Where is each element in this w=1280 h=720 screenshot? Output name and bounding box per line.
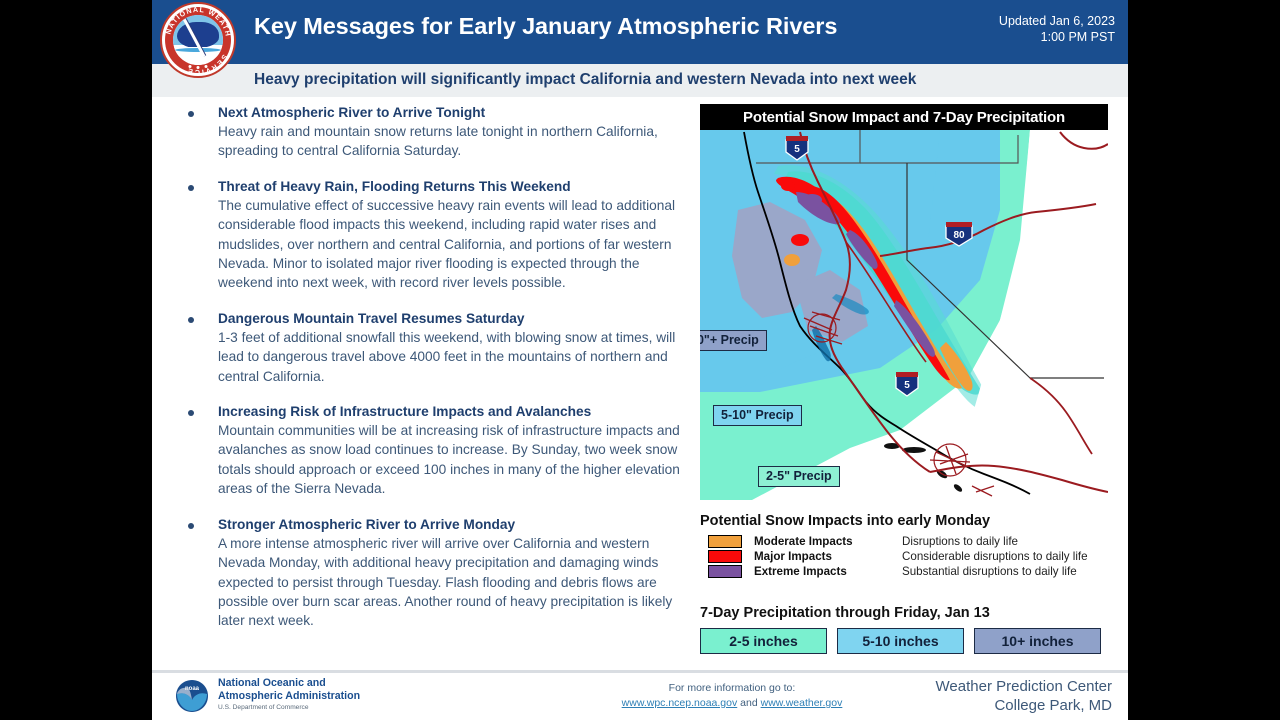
bullet-dot-icon <box>188 111 194 117</box>
key-message-body: 1-3 feet of additional snowfall this wee… <box>218 328 696 386</box>
key-message-heading: Stronger Atmospheric River to Arrive Mon… <box>218 516 696 533</box>
svg-text:noaa: noaa <box>185 686 200 692</box>
bullet-dot-icon <box>188 523 194 529</box>
snow-impact-major-c <box>791 234 809 246</box>
swatch-extreme-icon <box>708 565 742 578</box>
wpc-link[interactable]: www.wpc.ncep.noaa.gov <box>622 697 738 709</box>
bullet-dot-icon <box>188 410 194 416</box>
precipitation-legend: 7-Day Precipitation through Friday, Jan … <box>700 605 1120 654</box>
key-message-item: Dangerous Mountain Travel Resumes Saturd… <box>166 310 696 386</box>
noaa-logo-icon: noaa <box>174 678 210 714</box>
svg-text:5: 5 <box>904 380 910 391</box>
legend-desc-major: Considerable disruptions to daily life <box>902 550 1088 563</box>
map-panel: Potential Snow Impact and 7-Day Precipit… <box>700 104 1118 505</box>
legend-row-moderate: Moderate Impacts Disruptions to daily li… <box>700 535 1120 548</box>
noaa-name-line1: National Oceanic and <box>218 677 360 690</box>
key-message-item: Stronger Atmospheric River to Arrive Mon… <box>166 516 696 631</box>
precip-chip-10-plus: 10+ inches <box>974 628 1101 654</box>
precip-chip-2-5: 2-5 inches <box>700 628 827 654</box>
legend-label-moderate: Moderate Impacts <box>754 535 902 548</box>
legend-desc-extreme: Substantial disruptions to daily life <box>902 565 1077 578</box>
office-location: College Park, MD <box>936 696 1112 715</box>
key-message-item: Next Atmospheric River to Arrive Tonight… <box>166 104 696 161</box>
key-message-heading: Next Atmospheric River to Arrive Tonight <box>218 104 696 121</box>
california-precipitation-map: 5 80 5 10"+ Precip 5-10" Precip 2-5" Pre… <box>700 130 1108 505</box>
subtitle-text: Heavy precipitation will significantly i… <box>254 71 916 89</box>
key-message-heading: Threat of Heavy Rain, Flooding Returns T… <box>218 178 696 195</box>
updated-timestamp: Updated Jan 6, 2023 1:00 PM PST <box>999 13 1115 45</box>
updated-date: Updated Jan 6, 2023 <box>999 13 1115 29</box>
map-graphic: 5 80 5 <box>700 130 1108 505</box>
key-message-body: Mountain communities will be at increasi… <box>218 421 696 499</box>
swatch-major-icon <box>708 550 742 563</box>
noaa-wordmark: National Oceanic and Atmospheric Adminis… <box>218 677 360 711</box>
snow-impact-legend: Potential Snow Impacts into early Monday… <box>700 513 1120 580</box>
bullet-dot-icon <box>188 317 194 323</box>
key-messages-list: Next Atmospheric River to Arrive Tonight… <box>166 104 696 648</box>
bullet-dot-icon <box>188 185 194 191</box>
snow-impact-extreme-d <box>802 194 822 206</box>
snow-impact-legend-title: Potential Snow Impacts into early Monday <box>700 513 1120 529</box>
legend-desc-moderate: Disruptions to daily life <box>902 535 1018 548</box>
precip-chip-5-10: 5-10 inches <box>837 628 964 654</box>
more-information-links: www.wpc.ncep.noaa.gov and www.weather.go… <box>582 696 882 711</box>
key-message-body: The cumulative effect of successive heav… <box>218 196 696 293</box>
link-joiner: and <box>740 697 758 709</box>
legend-label-major: Major Impacts <box>754 550 902 563</box>
map-label-2-5-precip: 2-5" Precip <box>758 466 840 487</box>
snow-impact-major-b <box>781 181 795 191</box>
legend-label-extreme: Extreme Impacts <box>754 565 902 578</box>
legend-row-major: Major Impacts Considerable disruptions t… <box>700 550 1120 563</box>
svg-text:80: 80 <box>953 230 965 241</box>
national-weather-service-logo: NATIONAL WEATHER SERVICE <box>160 2 236 78</box>
noaa-department-line: U.S. Department of Commerce <box>218 704 360 711</box>
updated-time: 1:00 PM PST <box>999 29 1115 45</box>
slide-footer: noaa National Oceanic and Atmospheric Ad… <box>152 673 1128 720</box>
svg-text:5: 5 <box>794 144 800 155</box>
subtitle-bar: Heavy precipitation will significantly i… <box>152 64 1128 97</box>
key-message-body: Heavy rain and mountain snow returns lat… <box>218 122 696 161</box>
noaa-name-line2: Atmospheric Administration <box>218 690 360 703</box>
slide-header: Key Messages for Early January Atmospher… <box>152 0 1128 64</box>
map-label-5-10-precip: 5-10" Precip <box>713 405 802 426</box>
office-name: Weather Prediction Center <box>936 677 1112 696</box>
map-title: Potential Snow Impact and 7-Day Precipit… <box>700 104 1108 130</box>
key-message-item: Increasing Risk of Infrastructure Impact… <box>166 403 696 499</box>
nws-seal-emblem <box>173 15 223 65</box>
legend-row-extreme: Extreme Impacts Substantial disruptions … <box>700 565 1120 578</box>
precipitation-legend-title: 7-Day Precipitation through Friday, Jan … <box>700 605 1120 621</box>
key-message-body: A more intense atmospheric river will ar… <box>218 534 696 631</box>
map-label-10-plus-precip: 10"+ Precip <box>700 330 767 351</box>
key-message-heading: Dangerous Mountain Travel Resumes Saturd… <box>218 310 696 327</box>
weather-gov-link[interactable]: www.weather.gov <box>761 697 843 709</box>
snow-impact-moderate-c <box>784 254 800 266</box>
issuing-office: Weather Prediction Center College Park, … <box>936 677 1112 715</box>
key-message-heading: Increasing Risk of Infrastructure Impact… <box>218 403 696 420</box>
page-title: Key Messages for Early January Atmospher… <box>254 13 837 40</box>
precipitation-chip-row: 2-5 inches 5-10 inches 10+ inches <box>700 628 1120 654</box>
swatch-moderate-icon <box>708 535 742 548</box>
more-information-label: For more information go to: <box>582 681 882 696</box>
briefing-slide: Key Messages for Early January Atmospher… <box>152 0 1128 720</box>
more-information-block: For more information go to: www.wpc.ncep… <box>582 681 882 711</box>
key-message-item: Threat of Heavy Rain, Flooding Returns T… <box>166 178 696 293</box>
